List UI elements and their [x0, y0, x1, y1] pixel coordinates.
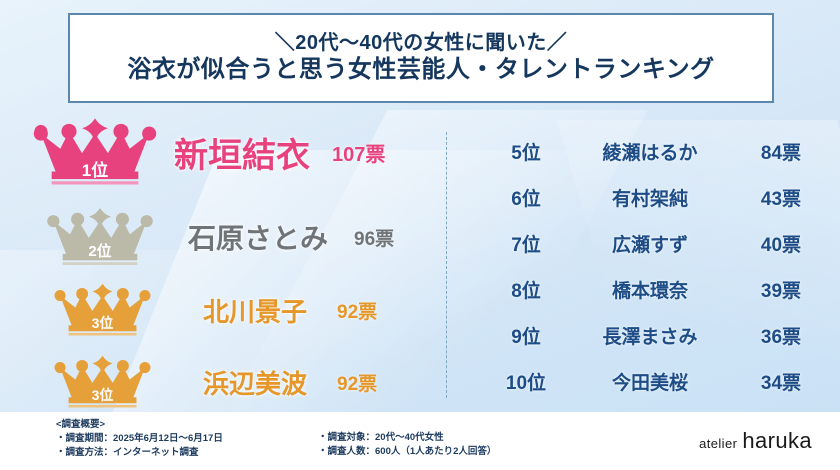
- survey-count: ・調査人数：600人（1人あたり2人回答）: [318, 445, 496, 459]
- crown-rank-label: 2位: [44, 244, 156, 259]
- survey-target: ・調査対象：20代〜40代女性: [318, 431, 496, 445]
- top-ranking-column: 1位 新垣結衣 107票 2位: [30, 116, 440, 406]
- title-subline: ＼20代〜40代の女性に聞いた／: [275, 32, 568, 54]
- crown-icon: 2位: [44, 206, 156, 268]
- rank-votes: 92票: [337, 369, 377, 396]
- crown-rank-label: 3位: [50, 388, 155, 402]
- rank-name: 浜辺美波: [203, 364, 307, 401]
- list-rank-votes: 36票: [738, 322, 824, 349]
- column-divider: [446, 132, 447, 398]
- footer-bar: <調査概要> ・調査期間：2025年6月12日〜6月17日 ・調査方法：インター…: [0, 412, 840, 470]
- top-rank-row: 1位 新垣結衣 107票: [30, 116, 440, 188]
- list-rank-votes: 34票: [738, 368, 824, 395]
- infographic-canvas: ＼20代〜40代の女性に聞いた／ 浴衣が似合うと思う女性芸能人・タレントランキン…: [0, 0, 840, 470]
- list-rank-name: 橋本環奈: [562, 276, 738, 303]
- crown-icon: 1位: [30, 116, 160, 188]
- survey-summary-left: <調査概要> ・調査期間：2025年6月12日〜6月17日 ・調査方法：インター…: [56, 418, 223, 459]
- list-item: 9位 長澤まさみ 36票: [490, 312, 830, 358]
- list-rank-name: 長澤まさみ: [562, 322, 738, 349]
- logo-haruka-text: haruka: [742, 428, 812, 454]
- lower-ranking-column: 5位 綾瀬はるか 84票 6位 有村架純 43票 7位 広瀬すず 40票 8位 …: [490, 128, 830, 404]
- list-rank-label: 6位: [490, 184, 562, 211]
- survey-method: ・調査方法：インターネット調査: [56, 446, 223, 460]
- rank-name: 北川景子: [203, 292, 307, 329]
- list-rank-name: 広瀬すず: [562, 230, 738, 257]
- list-rank-label: 5位: [490, 138, 562, 165]
- rank-votes: 96票: [354, 224, 394, 251]
- crown-rank-label: 3位: [50, 316, 155, 330]
- rank-name: 新垣結衣: [174, 128, 310, 177]
- rank-votes: 92票: [337, 297, 377, 324]
- survey-summary-right: ・調査対象：20代〜40代女性 ・調査人数：600人（1人あたり2人回答）: [318, 431, 496, 459]
- list-item: 6位 有村架純 43票: [490, 174, 830, 220]
- list-rank-label: 9位: [490, 322, 562, 349]
- list-rank-votes: 39票: [738, 276, 824, 303]
- ranking-area: 1位 新垣結衣 107票 2位: [0, 104, 840, 412]
- title-box: ＼20代〜40代の女性に聞いた／ 浴衣が似合うと思う女性芸能人・タレントランキン…: [68, 13, 774, 103]
- list-rank-label: 10位: [490, 368, 562, 395]
- list-item: 8位 橋本環奈 39票: [490, 266, 830, 312]
- survey-period: ・調査期間：2025年6月12日〜6月17日: [56, 432, 223, 446]
- list-rank-votes: 43票: [738, 184, 824, 211]
- top-rank-row: 3位 北川景子 92票: [30, 282, 440, 338]
- rank-name: 石原さとみ: [188, 217, 328, 257]
- page-title: 浴衣が似合うと思う女性芸能人・タレントランキング: [127, 56, 714, 84]
- logo-atelier-text: atelier: [699, 436, 737, 451]
- list-rank-votes: 84票: [738, 138, 824, 165]
- crown-icon: 3位: [50, 354, 155, 410]
- list-rank-label: 8位: [490, 276, 562, 303]
- list-item: 10位 今田美桜 34票: [490, 358, 830, 404]
- list-rank-label: 7位: [490, 230, 562, 257]
- list-rank-votes: 40票: [738, 230, 824, 257]
- list-item: 7位 広瀬すず 40票: [490, 220, 830, 266]
- list-rank-name: 今田美桜: [562, 368, 738, 395]
- list-rank-name: 綾瀬はるか: [562, 138, 738, 165]
- list-rank-name: 有村架純: [562, 184, 738, 211]
- survey-heading: <調査概要>: [56, 418, 223, 432]
- crown-icon: 3位: [50, 282, 155, 338]
- list-item: 5位 綾瀬はるか 84票: [490, 128, 830, 174]
- crown-rank-label: 1位: [30, 162, 160, 179]
- top-rank-row: 2位 石原さとみ 96票: [30, 206, 440, 268]
- rank-votes: 107票: [332, 138, 385, 167]
- brand-logo: atelier haruka: [699, 428, 812, 454]
- top-rank-row: 3位 浜辺美波 92票: [30, 354, 440, 410]
